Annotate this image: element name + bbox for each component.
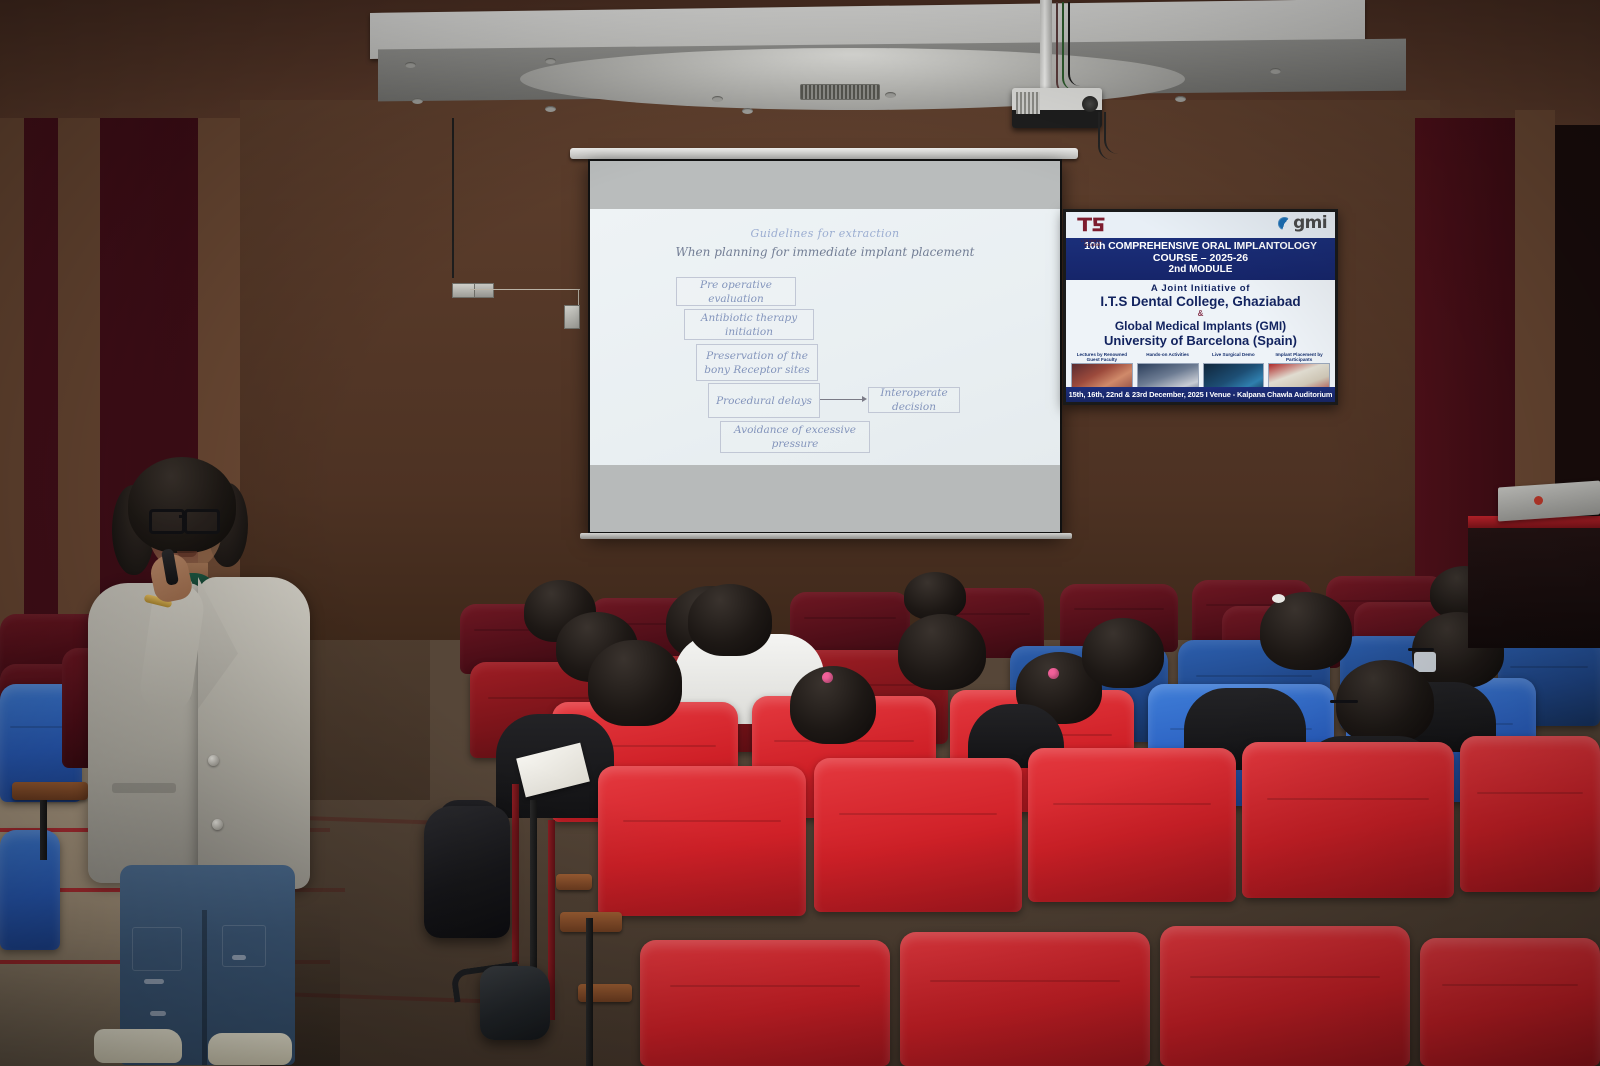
banner-headline-2: COURSE – 2025-26 xyxy=(1068,252,1333,264)
ceiling-light-dot xyxy=(405,62,416,68)
presenter-shoe xyxy=(94,1029,182,1063)
attendee-head xyxy=(1260,592,1352,670)
ceiling-light-dot xyxy=(1175,96,1186,102)
backpack[interactable] xyxy=(424,806,510,938)
jeans-distress xyxy=(232,955,246,960)
slide-step-1: Pre operative evaluation xyxy=(676,277,796,306)
gmi-swoosh-icon xyxy=(1278,217,1291,230)
banner-logo-row: I.T.S DENTAL COLLEGE gmi xyxy=(1066,212,1335,238)
wall-outlet-box[interactable] xyxy=(564,305,580,329)
projector-cable xyxy=(1068,2,1080,86)
ceiling-light-dot xyxy=(712,96,723,102)
seat-row1[interactable] xyxy=(1242,742,1454,898)
gmi-logo-text: gmi xyxy=(1293,215,1327,232)
seat-row1[interactable] xyxy=(1028,748,1236,902)
banner-org-1: I.T.S Dental College, Ghaziabad xyxy=(1068,294,1333,310)
ceiling-light-dot xyxy=(412,98,423,104)
jeans-pocket xyxy=(132,927,182,971)
hair-tie-icon xyxy=(1272,594,1285,603)
glasses-bridge-icon xyxy=(179,515,185,518)
laptop[interactable] xyxy=(1498,480,1600,521)
ceiling-light-dot xyxy=(885,92,896,98)
attendee-head xyxy=(904,572,966,620)
seat-armrest xyxy=(556,874,592,890)
hair-clip-icon xyxy=(822,672,833,683)
seat-row1[interactable] xyxy=(598,766,806,916)
seat-row0[interactable] xyxy=(640,940,890,1066)
seat-row1[interactable] xyxy=(1460,736,1600,892)
banner-ampersand: & xyxy=(1068,310,1333,319)
jeans-inseam xyxy=(202,910,207,1065)
wall-outlet-box[interactable] xyxy=(452,283,476,298)
its-dental-college-logo: I.T.S DENTAL COLLEGE xyxy=(1075,214,1109,236)
wall-cable xyxy=(470,289,580,290)
ceiling-light-dot xyxy=(1270,68,1281,74)
seat-row0[interactable] xyxy=(900,932,1150,1066)
shoulder-bag[interactable] xyxy=(480,966,550,1040)
face-mask-icon xyxy=(1414,652,1436,672)
jeans-distress xyxy=(150,1011,166,1016)
blazer-button xyxy=(208,755,219,766)
ceiling-light-dot xyxy=(545,106,556,112)
slide-arrow-head-icon xyxy=(862,396,867,402)
attendee-head xyxy=(898,614,986,690)
banner-headline-3: 2nd MODULE xyxy=(1068,264,1333,276)
seat-row0[interactable] xyxy=(1160,926,1410,1066)
wall-strip xyxy=(0,118,24,638)
slide-step-4: Procedural delays xyxy=(708,383,820,418)
seat-row1[interactable] xyxy=(814,758,1022,912)
projector-cable xyxy=(1104,112,1120,154)
seat-leg xyxy=(586,918,593,1066)
projector-mount-pole xyxy=(1040,0,1052,100)
banner-photo-caption: Live Surgical Demo xyxy=(1203,352,1265,363)
glasses-icon xyxy=(149,509,185,534)
seat-leg xyxy=(512,784,519,964)
banner-photo-caption: Lectures by Renowned Guest Faculty xyxy=(1071,352,1133,363)
wall-cable xyxy=(452,118,454,278)
auditorium-scene: Guidelines for extraction When planning … xyxy=(0,0,1600,1066)
slide-step-3: Preservation of the bony Receptor sites xyxy=(696,344,818,381)
slide-arrow xyxy=(820,399,862,400)
glasses-icon xyxy=(1330,700,1358,703)
projection-screen-roller[interactable] xyxy=(570,148,1078,159)
projection-screen: Guidelines for extraction When planning … xyxy=(588,159,1062,534)
ceiling-light-dot xyxy=(742,108,753,114)
projector-grill-icon xyxy=(1016,92,1040,114)
banner-joint-initiative: A Joint Initiative of xyxy=(1068,283,1333,294)
side-table xyxy=(1468,528,1600,648)
banner-photo-caption: Implant Placement by Participants xyxy=(1268,352,1330,363)
banner-org-2: Global Medical Implants (GMI) xyxy=(1068,319,1333,333)
seat-left-blue[interactable] xyxy=(0,830,60,950)
ceiling-vent-icon xyxy=(800,84,880,100)
blazer-button xyxy=(212,819,223,830)
jeans-distress xyxy=(144,979,164,984)
slide-title: Guidelines for extraction xyxy=(590,227,1060,240)
banner-org-3: University of Barcelona (Spain) xyxy=(1068,333,1333,349)
slide-side-note: Interoperate decision xyxy=(868,387,960,413)
presenter-shoe xyxy=(208,1033,292,1065)
hair-clip-icon xyxy=(1048,668,1059,679)
slide-step-2: Antibiotic therapy initiation xyxy=(684,309,814,340)
seat-leg xyxy=(40,800,47,860)
its-logo-caption: I.T.S DENTAL COLLEGE xyxy=(1075,239,1109,247)
blazer-pocket xyxy=(112,783,176,793)
laptop-logo-icon xyxy=(1534,496,1543,505)
wall-outlet-box[interactable] xyxy=(474,283,494,298)
attendee-head xyxy=(1082,618,1164,688)
banner-footer-dates: 15th, 16th, 22nd & 23rd December, 2025 I… xyxy=(1066,387,1335,402)
slide-subtitle: When planning for immediate implant plac… xyxy=(590,245,1060,259)
seat-leg xyxy=(530,800,537,970)
presenter-hair-top xyxy=(128,457,236,553)
gmi-logo: gmi xyxy=(1278,215,1327,232)
banner-photo-caption: Hands-on Activities xyxy=(1137,352,1199,363)
attendee-head-long-hair xyxy=(588,640,682,726)
seat-armrest xyxy=(12,782,88,800)
course-banner: I.T.S DENTAL COLLEGE gmi 10th COMPREHENS… xyxy=(1063,209,1338,405)
banner-body: A Joint Initiative of I.T.S Dental Colle… xyxy=(1066,280,1335,350)
glasses-icon xyxy=(184,509,220,534)
ceiling-light-dot xyxy=(545,58,556,64)
projector-lens-icon xyxy=(1082,96,1098,112)
seat-row0[interactable] xyxy=(1420,938,1600,1066)
presenter[interactable] xyxy=(80,455,330,1066)
slide-step-5: Avoidance of excessive pressure xyxy=(720,421,870,453)
attendee-head xyxy=(790,666,876,744)
slide-canvas: Guidelines for extraction When planning … xyxy=(590,209,1060,465)
glasses-icon xyxy=(1408,648,1434,651)
jeans-pocket xyxy=(222,925,266,967)
attendee-head xyxy=(688,584,772,656)
projection-screen-weight-bar xyxy=(580,533,1072,539)
